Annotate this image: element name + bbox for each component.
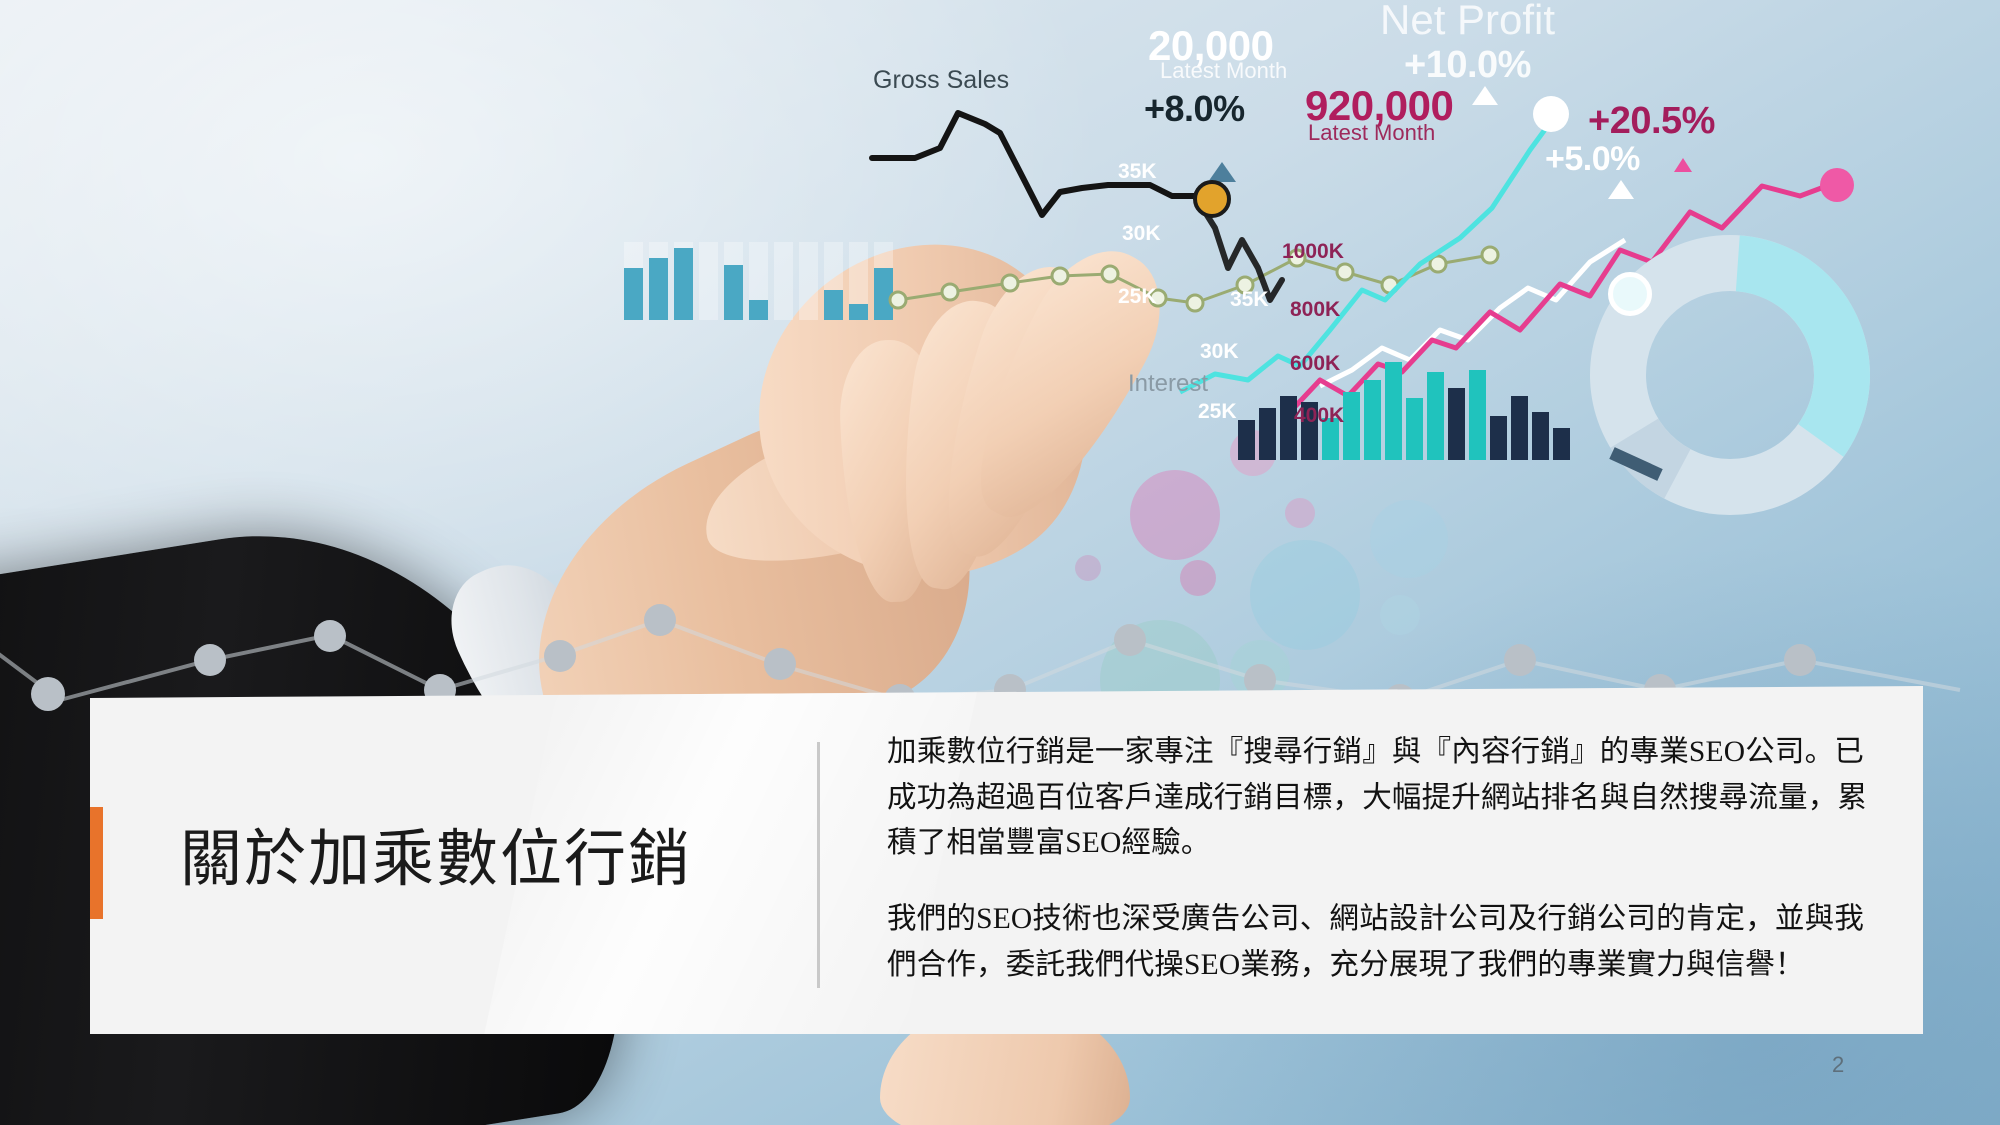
axis-tick-30k: 30K: [1122, 222, 1161, 246]
axis-tick-400k: 400K: [1294, 404, 1344, 428]
data-point-marker: [1820, 168, 1854, 202]
trend-up-triangle-icon: [1608, 180, 1634, 199]
teal-bar-chart-left: [624, 242, 893, 320]
data-point-marker: [1193, 180, 1231, 218]
axis-tick-25k: 25K: [1118, 285, 1157, 309]
chart-label-interest: Interest: [1128, 370, 1208, 398]
axis-tick-600k: 600K: [1290, 352, 1340, 376]
content-card: 關於加乘數位行銷 加乘數位行銷是一家專注『搜尋行銷』與『內容行銷』的專業SEO公…: [90, 686, 1923, 1034]
kpi-gross-sales-sublabel: Latest Month: [1160, 58, 1287, 84]
chart-label-gross-sales: Gross Sales: [873, 66, 1009, 95]
data-point-marker: [1533, 96, 1569, 132]
kpi-interest-change: +5.0%: [1545, 140, 1640, 179]
donut-chart: [1579, 224, 1882, 527]
data-point-marker: [1608, 272, 1652, 316]
axis-tick-35k: 35K: [1118, 160, 1157, 184]
page-title: 關於加乘數位行銷: [180, 826, 692, 894]
axis-tick-30k-secondary: 30K: [1200, 340, 1239, 364]
trend-up-triangle-icon: [1472, 86, 1498, 105]
axis-tick-35k-secondary: 35K: [1230, 288, 1269, 312]
chart-label-net-profit: Net Profit: [1380, 0, 1555, 44]
kpi-gross-sales-change: +8.0%: [1144, 88, 1245, 130]
page-number: 2: [1832, 1052, 1844, 1078]
white-growth-line: [1320, 240, 1625, 386]
axis-tick-25k-secondary: 25K: [1198, 400, 1237, 424]
axis-tick-800k: 800K: [1290, 298, 1340, 322]
trend-up-triangle-icon: [1208, 162, 1236, 182]
slide-root: Gross Sales Interest Net Profit 20,000 L…: [0, 0, 2000, 1125]
kpi-revenue-change: +20.5%: [1588, 100, 1715, 143]
title-column: 關於加乘數位行銷: [90, 686, 817, 1034]
vertical-divider: [817, 742, 820, 988]
body-paragraph-1: 加乘數位行銷是一家專注『搜尋行銷』與『內容行銷』的專業SEO公司。已成功為超過百…: [887, 730, 1891, 867]
axis-tick-1000k: 1000K: [1282, 240, 1344, 264]
kpi-revenue-sublabel: Latest Month: [1308, 120, 1435, 146]
trend-up-triangle-icon: [1674, 158, 1692, 172]
kpi-net-profit-change: +10.0%: [1404, 44, 1531, 87]
body-paragraph-2: 我們的SEO技術也深受廣告公司、網站設計公司及行銷公司的肯定，並與我們合作，委託…: [887, 897, 1891, 988]
body-text-column: 加乘數位行銷是一家專注『搜尋行銷』與『內容行銷』的專業SEO公司。已成功為超過百…: [817, 686, 1923, 1034]
teal-navy-bar-chart-right: [1238, 362, 1570, 460]
